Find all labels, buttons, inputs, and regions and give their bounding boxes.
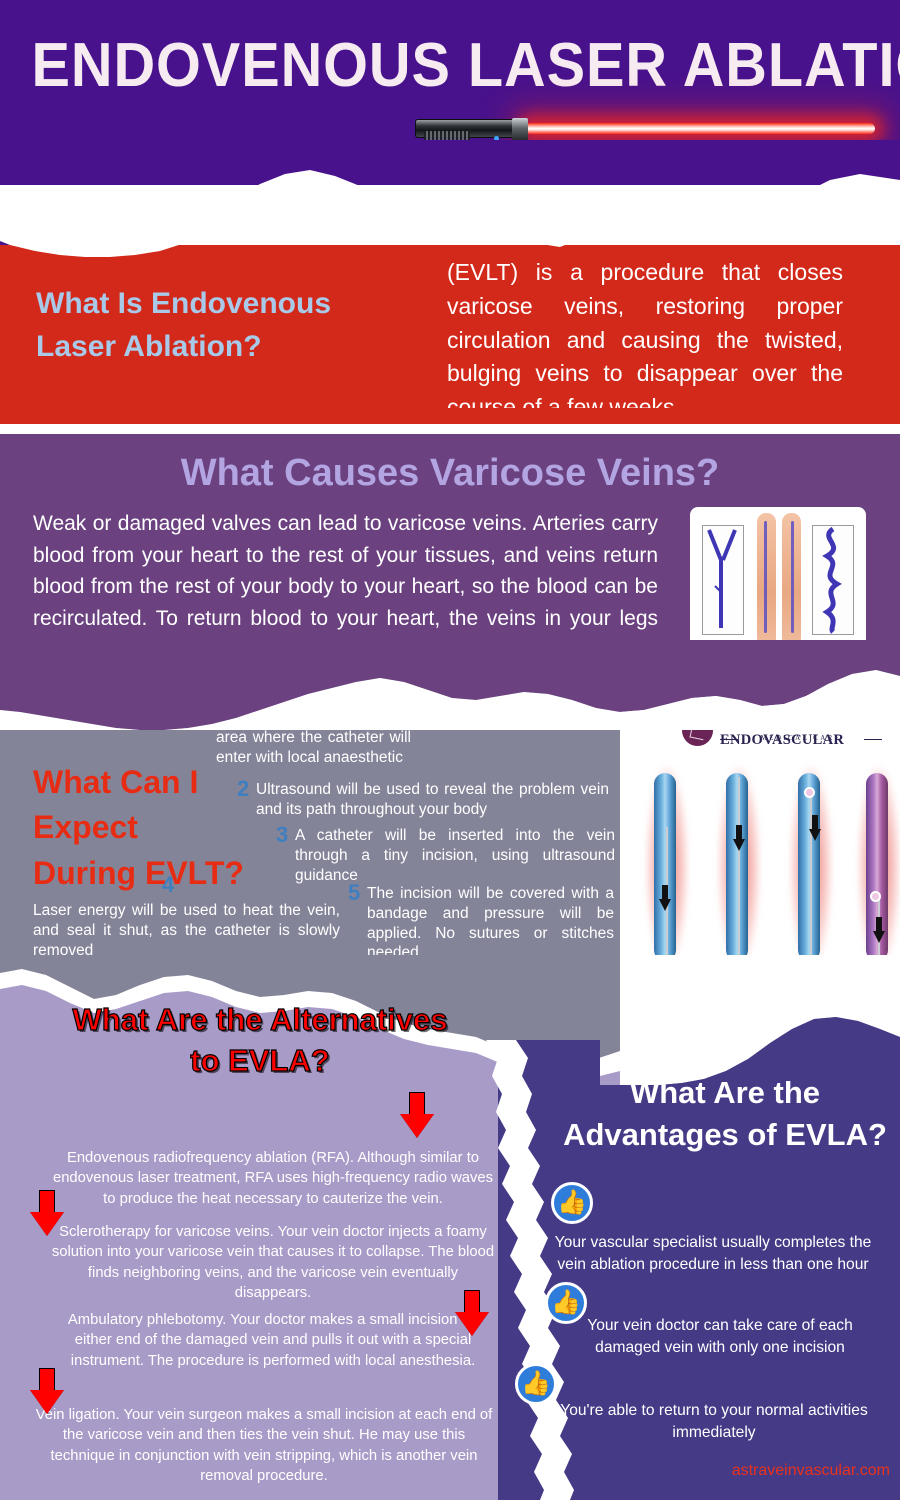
laser-grip	[424, 131, 470, 146]
varicose-veins-legs-image	[690, 507, 866, 652]
down-arrow-icon-1	[400, 1092, 434, 1138]
vein-stage-4	[856, 767, 900, 967]
intro-body-text: (EVLT) is a procedure that closes varico…	[447, 256, 843, 425]
advantages-heading: What Are the Advantages of EVLA?	[560, 1072, 890, 1156]
procedure-diagram-panel: ASTR VEIN & ENDOVASCULAR MEDICAL CARE	[620, 695, 900, 1015]
flow-arrow	[732, 825, 746, 851]
advantage-item-1: Your vascular specialist usually complet…	[548, 1232, 878, 1276]
step-number-2: 2	[237, 776, 249, 802]
vein-stage-1	[644, 767, 690, 967]
healthy-vein-panel	[702, 525, 744, 635]
infographic-page: ENDOVENOUS LASER ABLATION What Is Endove…	[0, 0, 900, 1500]
step-text-2: Ultrasound will be used to reveal the pr…	[256, 780, 609, 820]
causes-heading: What Causes Varicose Veins?	[0, 452, 900, 495]
step-number-4: 4	[162, 872, 174, 898]
down-arrow-icon-3	[455, 1290, 489, 1336]
laser-handle	[415, 119, 520, 138]
step-text-4: Laser energy will be used to heat the ve…	[33, 901, 340, 960]
step-text-1: Your doctor will numb the area where the…	[216, 708, 411, 767]
legs-illustration	[753, 513, 805, 645]
thumbs-up-icon-1: 👍	[551, 1182, 593, 1224]
step-number-5: 5	[348, 880, 360, 906]
left-leg	[757, 513, 776, 645]
advantage-item-2: Your vein doctor can take care of each d…	[560, 1315, 880, 1359]
laser-indicator-dot	[494, 136, 499, 141]
vein-stage-3	[788, 767, 834, 967]
logo-emblem-icon	[682, 715, 713, 746]
flow-arrow	[872, 917, 886, 943]
laser-tip-marker	[804, 787, 815, 798]
down-arrow-icon-2	[30, 1190, 64, 1236]
brand-logo: ASTR VEIN & ENDOVASCULAR MEDICAL CARE	[682, 713, 882, 749]
varicose-vein-illustration	[813, 526, 853, 634]
healthy-vein-illustration	[703, 526, 743, 634]
logo-emblem-text: ASTR	[682, 710, 713, 716]
alternative-item-4: Vein ligation. Your vein surgeon makes a…	[30, 1405, 498, 1487]
advantage-item-3: You're able to return to your normal act…	[540, 1400, 888, 1444]
laser-beam	[525, 123, 875, 134]
alternative-item-2: Sclerotherapy for varicose veins. Your v…	[48, 1222, 498, 1304]
step-text-5: The incision will be covered with a band…	[367, 884, 614, 963]
logo-subtitle: MEDICAL CARE	[720, 734, 882, 742]
website-url[interactable]: astraveinvascular.com	[560, 1462, 890, 1480]
thumbs-up-icon-2: 👍	[545, 1282, 587, 1324]
flow-arrow	[808, 815, 822, 841]
alternatives-heading: What Are the Alternatives to EVLA?	[60, 1000, 460, 1082]
logo-name: VEIN & ENDOVASCULAR	[720, 715, 882, 749]
intro-heading: What Is Endovenous Laser Ablation?	[36, 283, 396, 368]
flow-arrow	[658, 885, 672, 911]
step-number-1: 1	[198, 702, 210, 728]
page-title: ENDOVENOUS LASER ABLATION	[32, 30, 869, 101]
alternative-item-3: Ambulatory phlebotomy. Your doctor makes…	[48, 1310, 498, 1371]
lightsaber-laser-graphic	[415, 110, 875, 146]
laser-tip-marker	[870, 891, 881, 902]
thumbs-up-icon-3: 👍	[515, 1363, 557, 1405]
varicose-vein-panel	[812, 525, 854, 635]
step-number-3: 3	[276, 822, 288, 848]
intro-section: What Is Endovenous Laser Ablation? (EVLT…	[0, 185, 900, 430]
step-text-3: A catheter will be inserted into the vei…	[295, 826, 615, 885]
right-leg	[782, 513, 801, 645]
vein-stage-2	[716, 767, 762, 967]
causes-body-text: Weak or damaged valves can lead to varic…	[33, 508, 658, 666]
down-arrow-icon-4	[30, 1368, 64, 1414]
expect-heading: What Can I Expect During EVLT?	[33, 760, 248, 896]
alternative-item-1: Endovenous radiofrequency ablation (RFA)…	[48, 1148, 498, 1209]
